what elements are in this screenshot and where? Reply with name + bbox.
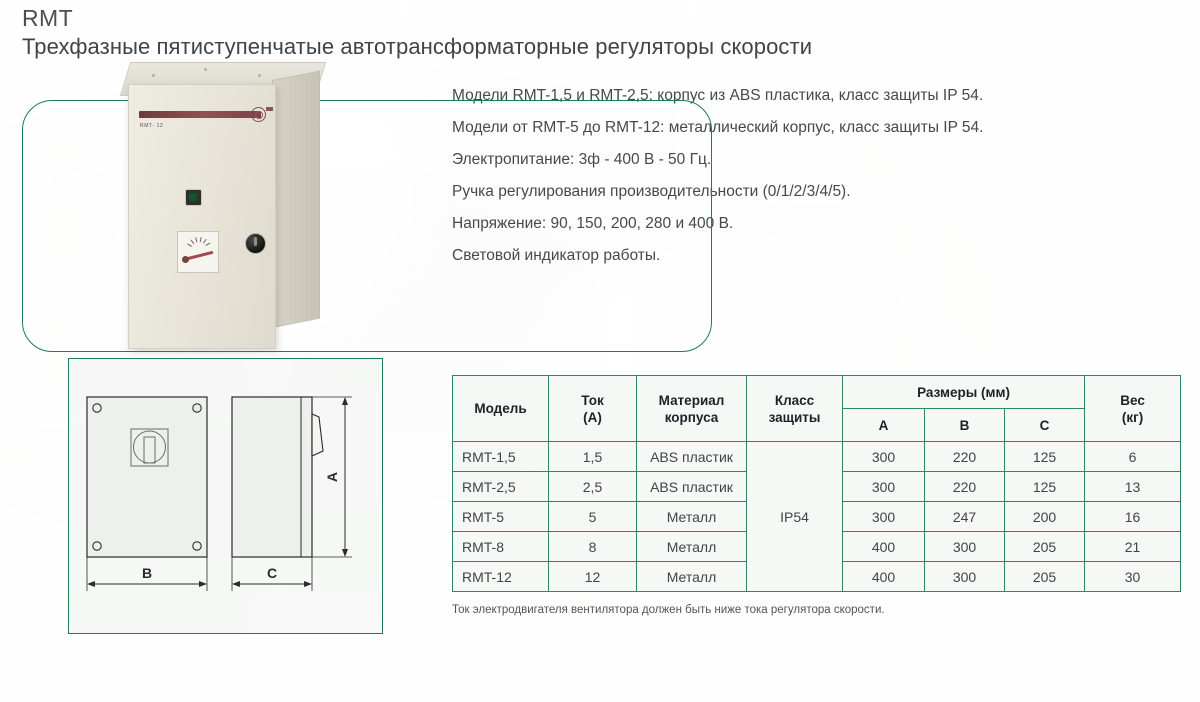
cell-dim-b: 300 bbox=[925, 562, 1005, 592]
page-header: RMT Трехфазные пятиступенчатые автотранс… bbox=[22, 4, 812, 62]
rotary-knob-icon bbox=[245, 233, 266, 254]
cell-dim-a: 300 bbox=[843, 442, 925, 472]
cell-dim-a: 300 bbox=[843, 472, 925, 502]
th-dim-c: C bbox=[1005, 409, 1085, 442]
cell-dim-a: 400 bbox=[843, 532, 925, 562]
th-material-line1: Материал bbox=[659, 393, 725, 408]
cell-dim-a: 300 bbox=[843, 502, 925, 532]
cell-current: 5 bbox=[549, 502, 637, 532]
table-footnote: Ток электродвигателя вентилятора должен … bbox=[452, 604, 885, 616]
cell-protection: IP54 bbox=[747, 442, 843, 592]
cell-material: ABS пластик bbox=[637, 472, 747, 502]
cell-weight: 21 bbox=[1085, 532, 1181, 562]
th-current: Ток (А) bbox=[549, 376, 637, 442]
logo-tag bbox=[266, 107, 273, 111]
speed-selector-dial bbox=[177, 231, 219, 273]
table-header: Модель Ток (А) Материал корпуса Класс за… bbox=[453, 376, 1181, 442]
specifications-table-wrapper: Модель Ток (А) Материал корпуса Класс за… bbox=[452, 375, 1180, 592]
cell-dim-c: 205 bbox=[1005, 532, 1085, 562]
page-title: Трехфазные пятиступенчатые автотрансформ… bbox=[22, 32, 812, 62]
cell-material: ABS пластик bbox=[637, 442, 747, 472]
cell-dim-a: 400 bbox=[843, 562, 925, 592]
indicator-lamp-icon bbox=[185, 189, 202, 206]
product-photo: RMT- 12 bbox=[112, 62, 347, 347]
svg-text:C: C bbox=[267, 565, 277, 581]
th-model: Модель bbox=[453, 376, 549, 442]
cell-current: 12 bbox=[549, 562, 637, 592]
cell-current: 8 bbox=[549, 532, 637, 562]
screw-icon bbox=[204, 68, 207, 71]
technical-drawing-svg: B C A bbox=[69, 359, 382, 633]
cell-model: RMT-8 bbox=[453, 532, 549, 562]
cell-material: Металл bbox=[637, 532, 747, 562]
specifications-table: Модель Ток (А) Материал корпуса Класс за… bbox=[452, 375, 1181, 592]
cell-material: Металл bbox=[637, 502, 747, 532]
th-protection-line1: Класс bbox=[775, 393, 814, 408]
th-dim-a: A bbox=[843, 409, 925, 442]
decor-stripe bbox=[139, 111, 261, 118]
cell-weight: 6 bbox=[1085, 442, 1181, 472]
cell-dim-c: 125 bbox=[1005, 442, 1085, 472]
cell-current: 1,5 bbox=[549, 442, 637, 472]
th-material-line2: корпуса bbox=[665, 410, 719, 425]
th-protection-line2: защиты bbox=[769, 410, 821, 425]
th-current-line2: (А) bbox=[583, 410, 602, 425]
cell-dim-c: 125 bbox=[1005, 472, 1085, 502]
table-body: RMT-1,5 1,5 ABS пластик IP54 300 220 125… bbox=[453, 442, 1181, 592]
th-material: Материал корпуса bbox=[637, 376, 747, 442]
th-weight: Вес (кг) bbox=[1085, 376, 1181, 442]
th-protection: Класс защиты bbox=[747, 376, 843, 442]
table-row: RMT-1,5 1,5 ABS пластик IP54 300 220 125… bbox=[453, 442, 1181, 472]
cell-current: 2,5 bbox=[549, 472, 637, 502]
manufacturer-logo-icon bbox=[251, 107, 266, 122]
th-weight-line2: (кг) bbox=[1122, 410, 1143, 425]
cell-model: RMT-2,5 bbox=[453, 472, 549, 502]
cell-dim-b: 247 bbox=[925, 502, 1005, 532]
cell-dim-b: 300 bbox=[925, 532, 1005, 562]
cabinet-front-face: RMT- 12 bbox=[128, 84, 276, 349]
th-dimensions: Размеры (мм) bbox=[843, 376, 1085, 409]
cell-weight: 16 bbox=[1085, 502, 1181, 532]
cell-dim-c: 205 bbox=[1005, 562, 1085, 592]
th-weight-line1: Вес bbox=[1120, 393, 1145, 408]
th-dim-b: B bbox=[925, 409, 1005, 442]
brand-name: RMT bbox=[22, 4, 812, 32]
cell-model: RMT-12 bbox=[453, 562, 549, 592]
table-header-row-1: Модель Ток (А) Материал корпуса Класс за… bbox=[453, 376, 1181, 409]
cell-model: RMT-1,5 bbox=[453, 442, 549, 472]
cell-model: RMT-5 bbox=[453, 502, 549, 532]
technical-drawing: B C A bbox=[68, 358, 383, 634]
th-current-line1: Ток bbox=[581, 393, 603, 408]
cell-dim-b: 220 bbox=[925, 472, 1005, 502]
cell-material: Металл bbox=[637, 562, 747, 592]
cell-weight: 13 bbox=[1085, 472, 1181, 502]
cell-dim-b: 220 bbox=[925, 442, 1005, 472]
screw-icon bbox=[152, 74, 155, 77]
cell-dim-c: 200 bbox=[1005, 502, 1085, 532]
cell-weight: 30 bbox=[1085, 562, 1181, 592]
svg-text:A: A bbox=[324, 472, 340, 482]
screw-icon bbox=[258, 74, 261, 77]
cabinet-side-face bbox=[272, 71, 320, 328]
product-label: RMT- 12 bbox=[140, 123, 163, 129]
svg-text:B: B bbox=[142, 565, 152, 581]
